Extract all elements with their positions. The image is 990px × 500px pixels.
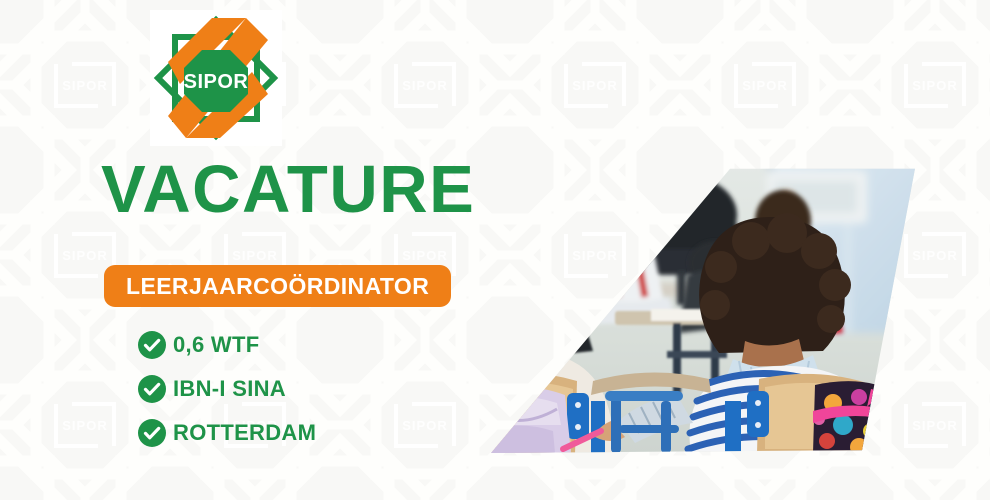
job-title-badge: LEERJAARCOÖRDINATOR [104, 265, 451, 307]
list-item-label: 0,6 WTF [173, 334, 259, 356]
vacancy-poster: SIPOR [0, 0, 990, 500]
list-item: IBN-I SINA [138, 374, 316, 404]
list-item: ROTTERDAM [138, 418, 316, 448]
list-item: 0,6 WTF [138, 330, 316, 360]
check-circle-icon [138, 375, 166, 403]
list-item-label: IBN-I SINA [173, 378, 286, 400]
vacancy-details-list: 0,6 WTF IBN-I SINA ROTTERDAM [138, 330, 316, 448]
page-title: VACATURE [101, 156, 475, 223]
check-circle-icon [138, 331, 166, 359]
sipor-logo: SIPOR [150, 10, 282, 146]
job-title-label: LEERJAARCOÖRDINATOR [126, 275, 429, 298]
logo-wordmark: SIPOR [184, 71, 249, 93]
check-circle-icon [138, 419, 166, 447]
list-item-label: ROTTERDAM [173, 422, 316, 444]
